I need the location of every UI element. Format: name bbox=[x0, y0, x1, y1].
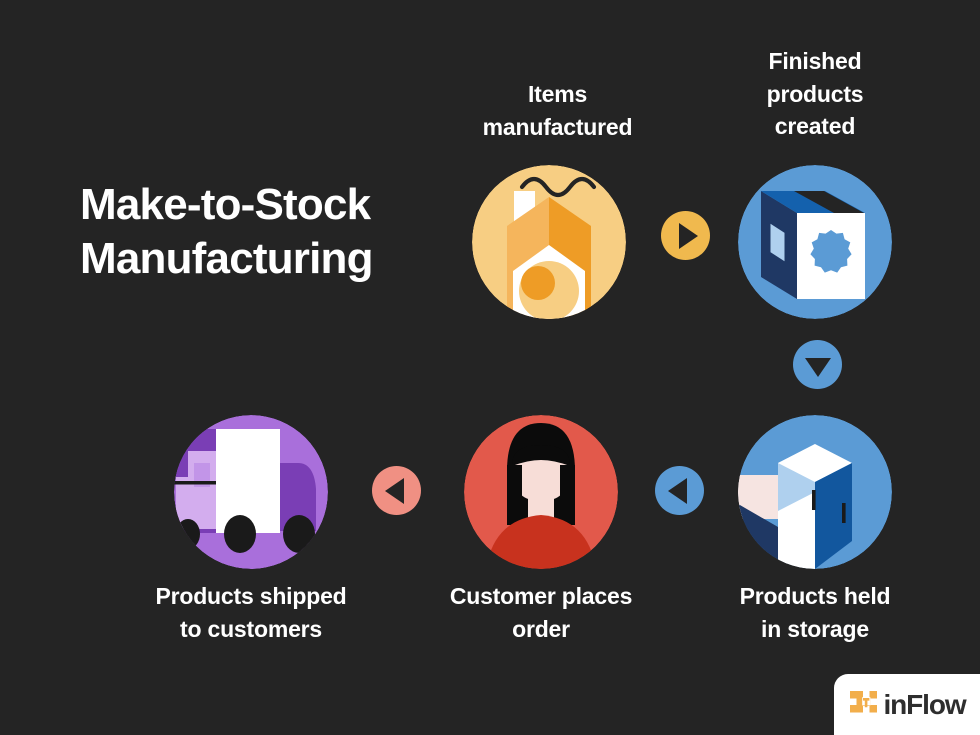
label-line: Items bbox=[430, 78, 685, 111]
package-box-icon[interactable] bbox=[738, 165, 892, 319]
arrow-box-to-storage[interactable] bbox=[793, 340, 842, 389]
label-finished-products-created: Finished products created bbox=[705, 45, 925, 143]
storage-cabinet-icon[interactable] bbox=[738, 415, 892, 569]
play-left-icon bbox=[668, 478, 687, 504]
inflow-logo-text: inFlow bbox=[883, 691, 965, 719]
label-products-shipped-to-customers: Products shipped to customers bbox=[125, 580, 377, 645]
label-line: manufactured bbox=[430, 111, 685, 144]
label-line: in storage bbox=[702, 613, 928, 646]
page-title: Make-to-Stock Manufacturing bbox=[80, 178, 480, 285]
arrow-customer-to-truck[interactable] bbox=[372, 466, 421, 515]
customer-avatar-icon[interactable] bbox=[464, 415, 618, 569]
arrow-factory-to-box[interactable] bbox=[661, 211, 710, 260]
page-title-line-1: Make-to-Stock bbox=[80, 178, 480, 232]
label-line: Products shipped bbox=[125, 580, 377, 613]
arrow-storage-to-customer[interactable] bbox=[655, 466, 704, 515]
inflow-logo[interactable]: inFlow bbox=[834, 674, 980, 735]
label-line: Finished bbox=[705, 45, 925, 78]
label-line: Products held bbox=[702, 580, 928, 613]
factory-icon[interactable] bbox=[472, 165, 626, 319]
delivery-truck-icon[interactable] bbox=[174, 415, 328, 569]
play-down-icon bbox=[805, 358, 831, 377]
label-products-held-in-storage: Products held in storage bbox=[702, 580, 928, 645]
label-items-manufactured: Items manufactured bbox=[430, 78, 685, 143]
label-line: created bbox=[705, 110, 925, 143]
label-line: products bbox=[705, 78, 925, 111]
play-left-icon bbox=[385, 478, 404, 504]
infographic-canvas: Make-to-Stock Manufacturing Items manufa… bbox=[0, 0, 980, 735]
label-customer-places-order: Customer places order bbox=[418, 580, 664, 645]
label-line: to customers bbox=[125, 613, 377, 646]
page-title-line-2: Manufacturing bbox=[80, 232, 480, 286]
label-line: Customer places bbox=[418, 580, 664, 613]
play-right-icon bbox=[679, 223, 698, 249]
label-line: order bbox=[418, 613, 664, 646]
inflow-logo-mark-icon bbox=[848, 685, 882, 724]
